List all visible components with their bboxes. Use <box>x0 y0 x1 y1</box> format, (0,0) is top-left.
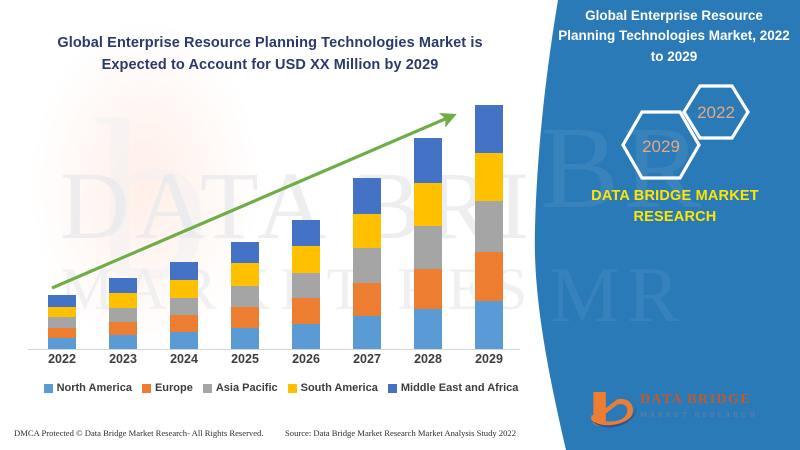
hexagon-2029-label: 2029 <box>642 137 680 156</box>
panel-brand: DATA BRIDGE MARKET RESEARCH <box>560 186 790 228</box>
bar-segment-2025-asia-pacific <box>231 286 259 307</box>
bar-segment-2024-south-america <box>170 280 198 298</box>
bar-segment-2029-europe <box>475 252 503 302</box>
bar-2022 <box>48 295 76 349</box>
bar-series-container <box>28 95 520 349</box>
bar-segment-2022-south-america <box>48 307 76 318</box>
chart-title: Global Enterprise Resource Planning Tech… <box>30 32 510 77</box>
legend-item-middle-east-and-africa[interactable]: Middle East and Africa <box>388 382 519 394</box>
footer: DMCA Protected © Data Bridge Market Rese… <box>0 424 560 446</box>
bar-segment-2024-europe <box>170 315 198 332</box>
panel-watermark-2: MR <box>550 250 687 340</box>
x-axis-label-2025: 2025 <box>225 352 265 366</box>
bar-segment-2026-south-america <box>292 246 320 272</box>
bar-segment-2025-north-america <box>231 328 259 349</box>
bar-segment-2027-asia-pacific <box>353 248 381 283</box>
bar-2025 <box>231 242 259 349</box>
legend-item-asia-pacific[interactable]: Asia Pacific <box>203 382 278 394</box>
bar-segment-2025-europe <box>231 307 259 328</box>
x-axis-label-2022: 2022 <box>42 352 82 366</box>
hexagon-group: 2022 2029 <box>580 78 780 188</box>
bar-segment-2023-asia-pacific <box>109 308 137 322</box>
legend-swatch-icon <box>44 384 53 393</box>
legend-label: Asia Pacific <box>216 382 278 394</box>
bar-segment-2024-asia-pacific <box>170 298 198 315</box>
x-axis-label-2029: 2029 <box>469 352 509 366</box>
slide-root: b DATA BRIDGE MARKET RESEARCH Global Ent… <box>0 0 800 450</box>
bar-segment-2029-south-america <box>475 153 503 201</box>
hexagon-2022-label: 2022 <box>697 103 735 122</box>
bar-2026 <box>292 220 320 349</box>
x-axis-line <box>28 349 520 350</box>
dbmr-logo-text: DATA BRIDGE MARKET RESEARCH <box>640 392 758 419</box>
bar-segment-2023-europe <box>109 322 137 336</box>
panel-brand-line1: DATA BRIDGE MARKET <box>591 188 759 204</box>
bar-segment-2027-europe <box>353 283 381 316</box>
bar-segment-2028-south-america <box>414 183 442 226</box>
bar-segment-2029-north-america <box>475 301 503 349</box>
footer-source-text: Source: Data Bridge Market Research Mark… <box>285 428 516 438</box>
dbmr-logo-line2: MARKET RESEARCH <box>640 410 758 419</box>
x-axis-label-2028: 2028 <box>408 352 448 366</box>
legend-label: South America <box>301 382 378 394</box>
x-axis-label-2026: 2026 <box>286 352 326 366</box>
bar-2023 <box>109 278 137 349</box>
bar-segment-2026-asia-pacific <box>292 273 320 298</box>
legend-item-europe[interactable]: Europe <box>142 382 193 394</box>
bar-segment-2026-europe <box>292 298 320 323</box>
bar-segment-2028-europe <box>414 269 442 309</box>
chart-legend: North AmericaEuropeAsia PacificSouth Ame… <box>26 382 536 394</box>
bar-segment-2024-middle-east-and-africa <box>170 262 198 280</box>
bar-segment-2027-south-america <box>353 214 381 249</box>
x-axis-labels: 20222023202420252026202720282029 <box>28 352 520 372</box>
bar-segment-2022-middle-east-and-africa <box>48 295 76 307</box>
legend-label: Middle East and Africa <box>401 382 519 394</box>
bar-segment-2029-asia-pacific <box>475 201 503 252</box>
bar-2027 <box>353 178 381 349</box>
bar-segment-2027-north-america <box>353 316 381 349</box>
legend-swatch-icon <box>288 384 297 393</box>
bar-segment-2023-middle-east-and-africa <box>109 278 137 293</box>
bar-segment-2027-middle-east-and-africa <box>353 178 381 214</box>
chart-plot-area <box>28 95 528 350</box>
footer-dmca-text: DMCA Protected © Data Bridge Market Rese… <box>14 428 264 438</box>
dbmr-logo-line1: DATA BRIDGE <box>640 392 758 408</box>
bar-segment-2023-north-america <box>109 335 137 349</box>
bar-segment-2023-south-america <box>109 293 137 308</box>
panel-content: BR MR Global Enterprise Resource Plannin… <box>560 0 800 450</box>
legend-item-north-america[interactable]: North America <box>44 382 132 394</box>
bar-2024 <box>170 262 198 349</box>
legend-swatch-icon <box>203 384 212 393</box>
x-axis-label-2023: 2023 <box>103 352 143 366</box>
bar-segment-2022-europe <box>48 328 76 339</box>
x-axis-label-2027: 2027 <box>347 352 387 366</box>
bar-segment-2025-middle-east-and-africa <box>231 242 259 263</box>
x-axis-label-2024: 2024 <box>164 352 204 366</box>
bar-segment-2026-north-america <box>292 324 320 349</box>
legend-item-south-america[interactable]: South America <box>288 382 378 394</box>
bar-segment-2025-south-america <box>231 263 259 285</box>
dbmr-logo: DATA BRIDGE MARKET RESEARCH <box>588 388 778 434</box>
bar-2028 <box>414 138 442 349</box>
dbmr-logo-mark <box>588 388 638 430</box>
legend-label: Europe <box>155 382 193 394</box>
bar-segment-2026-middle-east-and-africa <box>292 220 320 246</box>
bar-segment-2022-north-america <box>48 338 76 349</box>
bar-segment-2022-asia-pacific <box>48 317 76 328</box>
panel-title: Global Enterprise Resource Planning Tech… <box>558 6 790 67</box>
legend-swatch-icon <box>142 384 151 393</box>
bar-segment-2028-asia-pacific <box>414 226 442 268</box>
bar-segment-2028-north-america <box>414 309 442 349</box>
panel-brand-line2: RESEARCH <box>634 209 717 225</box>
bar-segment-2024-north-america <box>170 332 198 349</box>
bar-segment-2028-middle-east-and-africa <box>414 138 442 182</box>
bar-segment-2029-middle-east-and-africa <box>475 105 503 154</box>
bar-2029 <box>475 105 503 349</box>
legend-swatch-icon <box>388 384 397 393</box>
legend-label: North America <box>57 382 132 394</box>
